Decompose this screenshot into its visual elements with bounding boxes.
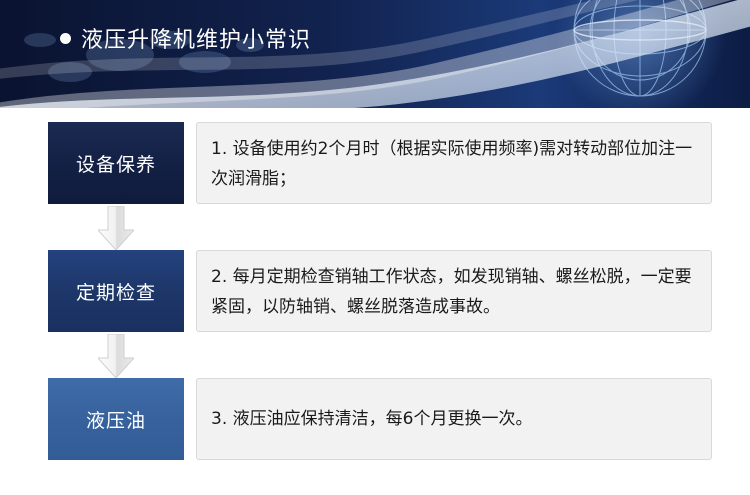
bullet-dot-icon — [60, 33, 71, 44]
row-label-equipment-maintenance[interactable]: 设备保养 — [48, 122, 184, 204]
header-banner: 液压升降机维护小常识 — [0, 0, 750, 108]
row-label-hydraulic-oil[interactable]: 液压油 — [48, 378, 184, 460]
content-row-1: 设备保养 1. 设备使用约2个月时（根据实际使用频率)需对转动部位加注一次润滑脂… — [48, 122, 712, 204]
row-text-regular-inspection: 2. 每月定期检查销轴工作状态，如发现销轴、螺丝松脱，一定要紧固，以防轴销、螺丝… — [196, 250, 712, 332]
content-row-2: 定期检查 2. 每月定期检查销轴工作状态，如发现销轴、螺丝松脱，一定要紧固，以防… — [48, 250, 712, 332]
down-arrow-icon-2 — [98, 334, 134, 378]
down-arrow-icon-1 — [98, 206, 134, 250]
row-text-equipment-maintenance: 1. 设备使用约2个月时（根据实际使用频率)需对转动部位加注一次润滑脂； — [196, 122, 712, 204]
row-label-regular-inspection[interactable]: 定期检查 — [48, 250, 184, 332]
slide-canvas: 液压升降机维护小常识 设备保养 1. 设备使用约2个月时（根据实际使用频率)需对… — [0, 0, 750, 495]
content-row-3: 液压油 3. 液压油应保持清洁，每6个月更换一次。 — [48, 378, 712, 460]
page-title: 液压升降机维护小常识 — [60, 22, 311, 54]
header-artwork — [0, 0, 750, 108]
page-title-text: 液压升降机维护小常识 — [81, 22, 311, 54]
row-text-hydraulic-oil: 3. 液压油应保持清洁，每6个月更换一次。 — [196, 378, 712, 460]
